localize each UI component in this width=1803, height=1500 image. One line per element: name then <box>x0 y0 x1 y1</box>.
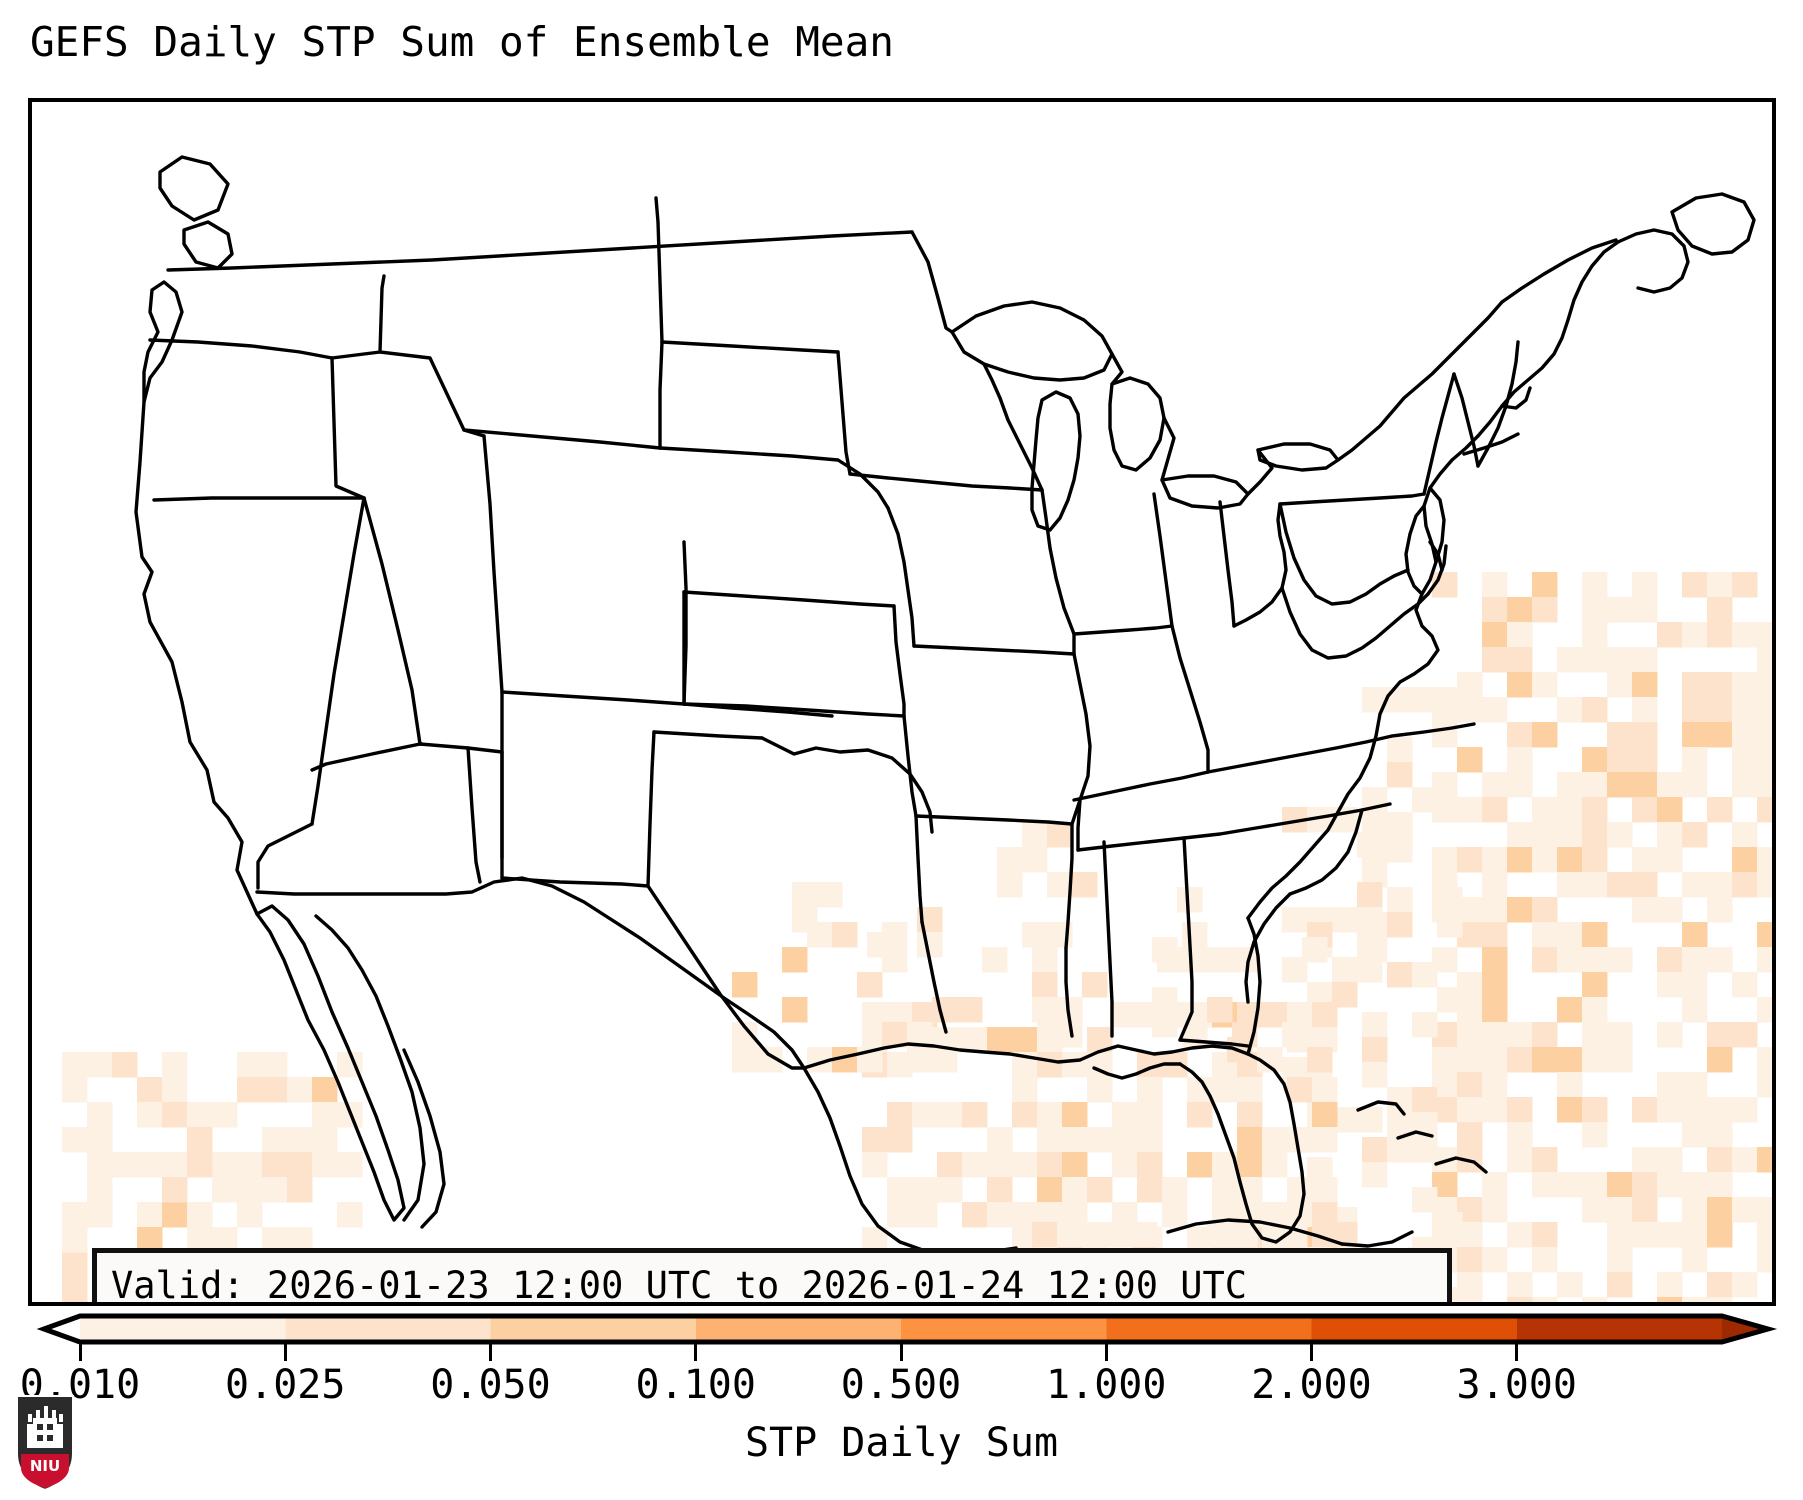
state-border-ne-ks <box>684 592 894 606</box>
state-border-tn-south <box>1078 804 1390 850</box>
state-border-ca-az <box>258 824 312 888</box>
colorbar-tick-0 <box>79 1343 82 1361</box>
colorbar-tick-label-7: 3.000 <box>1457 1362 1577 1408</box>
state-border-id-wy <box>380 352 484 436</box>
state-border-il-ky <box>1074 772 1208 800</box>
state-border-il-in <box>1154 494 1172 626</box>
colorbar-band-6 <box>1312 1316 1518 1342</box>
state-border-wy-co <box>502 692 684 704</box>
state-border-nd-sd <box>662 342 838 352</box>
colorbar-tick-7 <box>1515 1343 1518 1361</box>
state-border-la-tx <box>922 922 946 1032</box>
us-canada-border-lakes <box>912 232 1502 494</box>
state-border-pa-md-wv <box>1280 504 1408 604</box>
state-border-ut-az <box>420 692 502 752</box>
info-box: Valid: 2026-01-23 12:00 UTC to 2026-01-2… <box>92 1248 1452 1306</box>
state-border-nc-sc <box>1290 810 1362 894</box>
state-border-mn-wi <box>984 364 1042 490</box>
state-border-or-ca <box>154 498 364 500</box>
state-border-ia-il <box>1042 490 1074 654</box>
map-canvas <box>32 102 1772 1302</box>
mexico-gulf-coast <box>804 1068 1016 1254</box>
state-border-ia-mo <box>914 646 1074 654</box>
state-border-pa-ny <box>1280 494 1424 504</box>
state-border-mo-ar <box>916 816 1072 824</box>
state-border-sd-ne <box>660 448 888 508</box>
cuba-island <box>1168 1220 1342 1244</box>
lake-michigan <box>1032 392 1080 530</box>
niu-wordmark: NIU <box>30 1457 60 1475</box>
state-border-ca-nv <box>312 498 364 824</box>
state-border-nm-tx <box>502 732 654 886</box>
bahamas-islands-2 <box>1398 1132 1432 1138</box>
state-border-ar-la <box>916 816 922 922</box>
geography-layer <box>32 102 1772 1302</box>
bahamas-islands-3 <box>1436 1158 1486 1172</box>
us-mexico-border <box>257 878 804 1068</box>
state-border-al-ms <box>1104 842 1112 1036</box>
niu-shield-logo: NIU <box>14 1392 76 1492</box>
cuba-island-east <box>1342 1232 1412 1246</box>
colorbar-band-4 <box>901 1316 1107 1342</box>
state-border-oh-wv-pa <box>1234 504 1286 626</box>
colorbar-tick-labels: 0.0100.0250.0500.1000.5001.0002.0003.000 <box>0 1362 1803 1412</box>
colorbar-band-7 <box>1517 1316 1723 1342</box>
state-border-tn-nc-ga <box>1078 800 1080 850</box>
colorbar-band-1 <box>285 1316 491 1342</box>
state-border-id-mt-wy <box>332 276 384 358</box>
map-panel: Valid: 2026-01-23 12:00 UTC to 2026-01-2… <box>28 98 1776 1306</box>
colorbar-band-5 <box>1106 1316 1312 1342</box>
state-border-in-ky <box>1172 626 1208 772</box>
valid-time-line: Valid: 2026-01-23 12:00 UTC to 2026-01-2… <box>111 1259 1433 1306</box>
colorbar-tick-label-1: 0.025 <box>225 1362 345 1408</box>
state-border-ar-ms <box>1066 824 1072 948</box>
state-border-nd-mn <box>838 352 850 474</box>
us-canada-border-west <box>168 232 912 270</box>
state-border-ne-ia <box>888 508 914 646</box>
gulf-of-california <box>404 1050 444 1227</box>
lake-huron <box>1110 378 1164 470</box>
colorbar-band-2 <box>491 1316 697 1342</box>
state-border-ia-mn <box>850 474 1042 490</box>
state-border-mt-nd <box>656 198 662 342</box>
colorbar-ticks <box>0 1343 1803 1363</box>
state-border-wa-or <box>150 340 332 358</box>
state-border-az-nm-v <box>468 748 480 882</box>
state-border-va-nc <box>1392 724 1474 736</box>
bahamas-islands <box>1358 1102 1404 1114</box>
state-border-wi-il <box>1074 626 1172 634</box>
state-border-in-oh <box>1220 502 1234 626</box>
baja-california <box>257 906 404 1220</box>
colorbar-tick-3 <box>694 1343 697 1361</box>
colorbar-band-0 <box>80 1316 286 1342</box>
colorbar-tick-label-6: 2.000 <box>1251 1362 1371 1408</box>
state-border-ok-nm-panhandle <box>654 732 762 738</box>
figure-root: GEFS Daily STP Sum of Ensemble Mean <box>0 0 1803 1500</box>
state-border-ga-al <box>1180 838 1192 1040</box>
state-border-nv-az-ut <box>312 744 420 770</box>
state-border-ok-ar <box>904 716 916 816</box>
state-border-nv-ut <box>364 498 420 744</box>
chesapeake-bay <box>1406 506 1424 594</box>
vancouver-island <box>160 157 228 220</box>
colorbar-tick-6 <box>1310 1343 1313 1361</box>
state-border-mt-wy <box>464 430 660 448</box>
st-lawrence-coast <box>1502 240 1616 302</box>
colorbar-axis-label: STP Daily Sum <box>0 1420 1803 1466</box>
page-title: GEFS Daily STP Sum of Ensemble Mean <box>30 18 894 66</box>
florida-peninsula <box>1180 1054 1304 1242</box>
state-border-wy-ut-co <box>484 436 502 692</box>
lake-superior <box>952 302 1112 380</box>
nova-scotia-coast <box>1618 230 1688 292</box>
colorbar-tick-label-2: 0.050 <box>430 1362 550 1408</box>
colorbar-tick-1 <box>284 1343 287 1361</box>
colorbar-tick-4 <box>900 1343 903 1361</box>
florida-east-coast <box>1248 918 1260 1054</box>
lake-erie <box>1162 476 1248 508</box>
colorbar-band-3 <box>696 1316 902 1342</box>
colorbar-tick-label-5: 1.000 <box>1046 1362 1166 1408</box>
olympic-coast <box>184 222 232 268</box>
state-border-mo-ks-ne <box>894 606 904 716</box>
pacific-coastline <box>136 402 257 914</box>
florida-panhandle-coast <box>1094 1064 1180 1078</box>
colorbar-tick-label-4: 0.500 <box>841 1362 961 1408</box>
colorbar-tick-label-3: 0.100 <box>636 1362 756 1408</box>
state-border-la-ms <box>1066 948 1072 1036</box>
colorbar-tick-2 <box>489 1343 492 1361</box>
colorbar-tick-5 <box>1105 1343 1108 1361</box>
state-border-mt-nd-sd <box>660 342 662 448</box>
